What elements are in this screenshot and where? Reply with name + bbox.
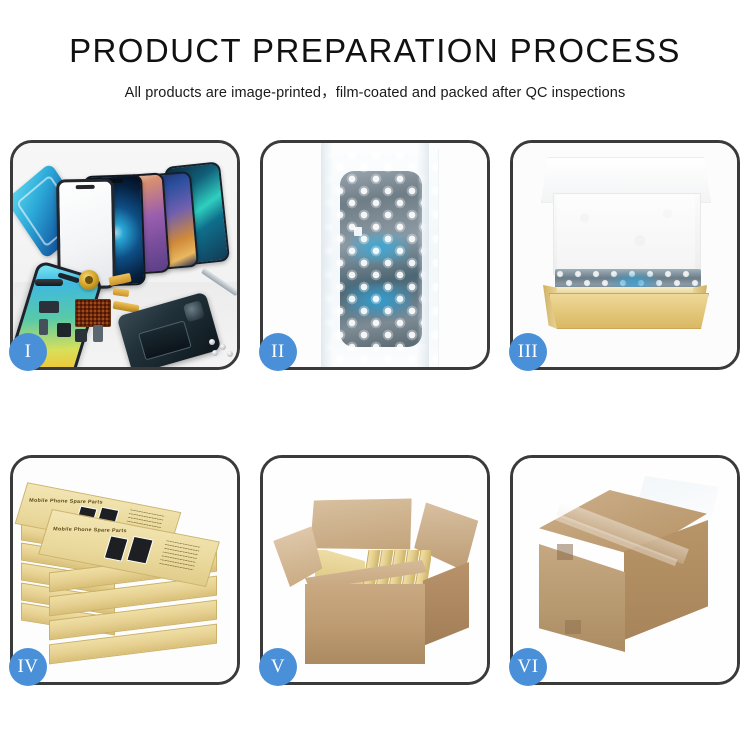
chip-graphic-4 xyxy=(75,329,87,342)
chip-graphic-1 xyxy=(39,301,59,313)
process-step-card-6[interactable]: VI xyxy=(510,455,740,685)
process-step-card-3[interactable]: III xyxy=(510,140,740,370)
phone-parts-illustration xyxy=(13,143,237,367)
bubble-sheet-edge-right xyxy=(417,143,429,367)
box-lid-front-thumb-1 xyxy=(104,535,129,561)
sealed-carton-illustration xyxy=(513,458,737,682)
box-lid-front-thumb-2 xyxy=(126,536,153,564)
camera-module-graphic xyxy=(183,300,205,322)
tweezers-graphic xyxy=(201,268,237,296)
step-image-5 xyxy=(263,458,487,682)
process-step-card-5[interactable]: V xyxy=(260,455,490,685)
page-header: PRODUCT PREPARATION PROCESS All products… xyxy=(0,0,750,102)
open-carton-illustration xyxy=(263,458,487,682)
step-badge-6: VI xyxy=(509,648,547,686)
battery-graphic xyxy=(138,320,192,360)
carton-marking-1 xyxy=(557,544,573,560)
step-badge-4: IV xyxy=(9,648,47,686)
gold-coil-graphic xyxy=(79,270,99,290)
phone-back-shell-graphic xyxy=(117,291,222,367)
bubble-wrap-illustration xyxy=(263,143,487,367)
open-inner-box-illustration xyxy=(513,143,737,367)
speaker-module-graphic xyxy=(35,279,63,286)
step-badge-3: III xyxy=(509,333,547,371)
box-lid-front-checklist xyxy=(159,540,200,571)
screws-graphic xyxy=(209,339,235,357)
process-step-card-1[interactable]: I xyxy=(10,140,240,370)
process-step-grid: I II xyxy=(10,140,740,685)
carton-front-panel xyxy=(305,584,425,664)
step-badge-5: V xyxy=(259,648,297,686)
page-subtitle: All products are image-printed，film-coat… xyxy=(0,81,750,102)
bubble-sheet-edge-left xyxy=(321,143,333,367)
flex-cable-graphic-2 xyxy=(113,288,130,297)
box-lid-front-label: Mobile Phone Spare Parts xyxy=(53,526,127,534)
copper-mesh-graphic xyxy=(75,299,111,327)
step-image-2 xyxy=(263,143,487,367)
box-lid-rear-label: Mobile Phone Spare Parts xyxy=(29,498,103,506)
step-image-6 xyxy=(513,458,737,682)
carton-flap-back xyxy=(308,495,415,554)
carton-marking-2 xyxy=(565,620,581,634)
chip-graphic-2 xyxy=(39,319,48,335)
step-image-1 xyxy=(13,143,237,367)
process-step-card-4[interactable]: Mobile Phone Spare Parts Mobile Phone Sp… xyxy=(10,455,240,685)
step-badge-1: I xyxy=(9,333,47,371)
chip-graphic-3 xyxy=(57,323,71,337)
stacked-boxes-illustration: Mobile Phone Spare Parts Mobile Phone Sp… xyxy=(13,458,237,682)
box-front-panel xyxy=(549,293,709,329)
process-step-card-2[interactable]: II xyxy=(260,140,490,370)
carton-front-face xyxy=(539,544,625,652)
foam-liner-graphic xyxy=(557,195,695,271)
step-image-4: Mobile Phone Spare Parts Mobile Phone Sp… xyxy=(13,458,237,682)
step-badge-2: II xyxy=(259,333,297,371)
step-image-3 xyxy=(513,143,737,367)
chip-graphic-5 xyxy=(93,325,103,342)
page-title: PRODUCT PREPARATION PROCESS xyxy=(0,34,750,69)
